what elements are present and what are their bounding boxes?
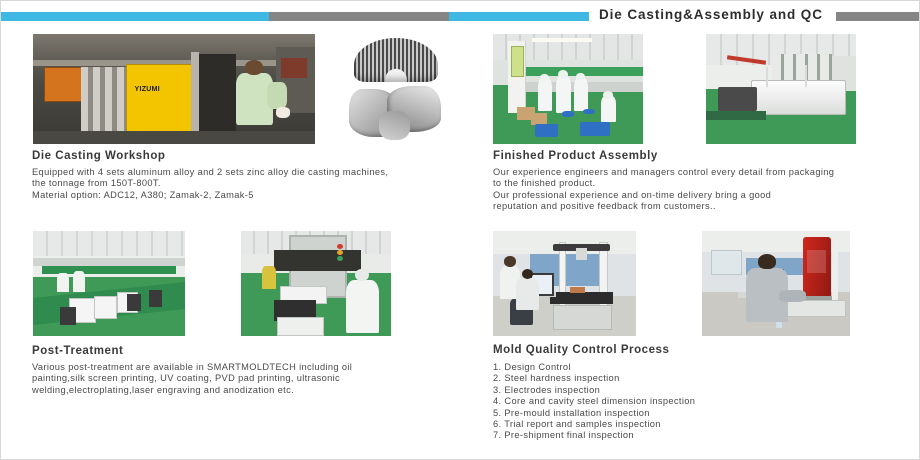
header-bar-gray-right	[836, 12, 919, 21]
photo-row-die-casting: YIZUMI DM180	[33, 34, 455, 144]
section-title-die-casting-workshop: Die Casting Workshop	[32, 150, 165, 162]
page-header: Die Casting&Assembly and QC	[1, 1, 919, 29]
photo-red-cmm-inspection	[702, 231, 850, 336]
list-item: 1. Design Control	[493, 362, 918, 373]
quality-control-steps-list: 1. Design Control 2. Steel hardness insp…	[493, 362, 918, 442]
photo-row-assembly	[493, 34, 856, 144]
section-body-post-treatment: Various post-treatment are available in …	[32, 362, 452, 396]
photo-die-casting-machine-operator: YIZUMI DM180	[33, 34, 315, 144]
list-item: 7. Pre-shipment final inspection	[493, 430, 918, 441]
section-body-die-casting-workshop: Equipped with 4 sets aluminum alloy and …	[32, 167, 452, 201]
header-bar-gray-mid	[269, 12, 449, 21]
photo-row-quality-control	[493, 231, 850, 336]
list-item: 5. Pre-mould installation inspection	[493, 408, 918, 419]
header-bar-blue-mid	[449, 12, 589, 21]
header-bar-blue-left	[1, 12, 269, 21]
photo-cmm-measurement-room	[493, 231, 636, 336]
photo-testing-oven-station	[241, 231, 391, 336]
list-item: 2. Steel hardness inspection	[493, 373, 918, 384]
photo-assembly-workers-cleanroom	[493, 34, 643, 144]
list-item: 6. Trial report and samples inspection	[493, 419, 918, 430]
section-body-finished-product-assembly: Our experience engineers and managers co…	[493, 167, 918, 213]
list-item: 4. Core and cavity steel dimension inspe…	[493, 396, 918, 407]
section-title-mold-quality-control-process: Mold Quality Control Process	[493, 344, 669, 356]
list-item: 3. Electrodes inspection	[493, 385, 918, 396]
page-title: Die Casting&Assembly and QC	[599, 5, 834, 25]
photo-post-treatment-conveyor-line	[33, 231, 185, 336]
photo-aluminum-castings-products	[337, 34, 455, 144]
photo-smt-assembly-line	[706, 34, 856, 144]
photo-row-post-treatment	[33, 231, 391, 336]
slide-page: Die Casting&Assembly and QC YIZUMI DM180	[0, 0, 920, 460]
section-title-post-treatment: Post-Treatment	[32, 345, 123, 357]
section-title-finished-product-assembly: Finished Product Assembly	[493, 150, 658, 162]
